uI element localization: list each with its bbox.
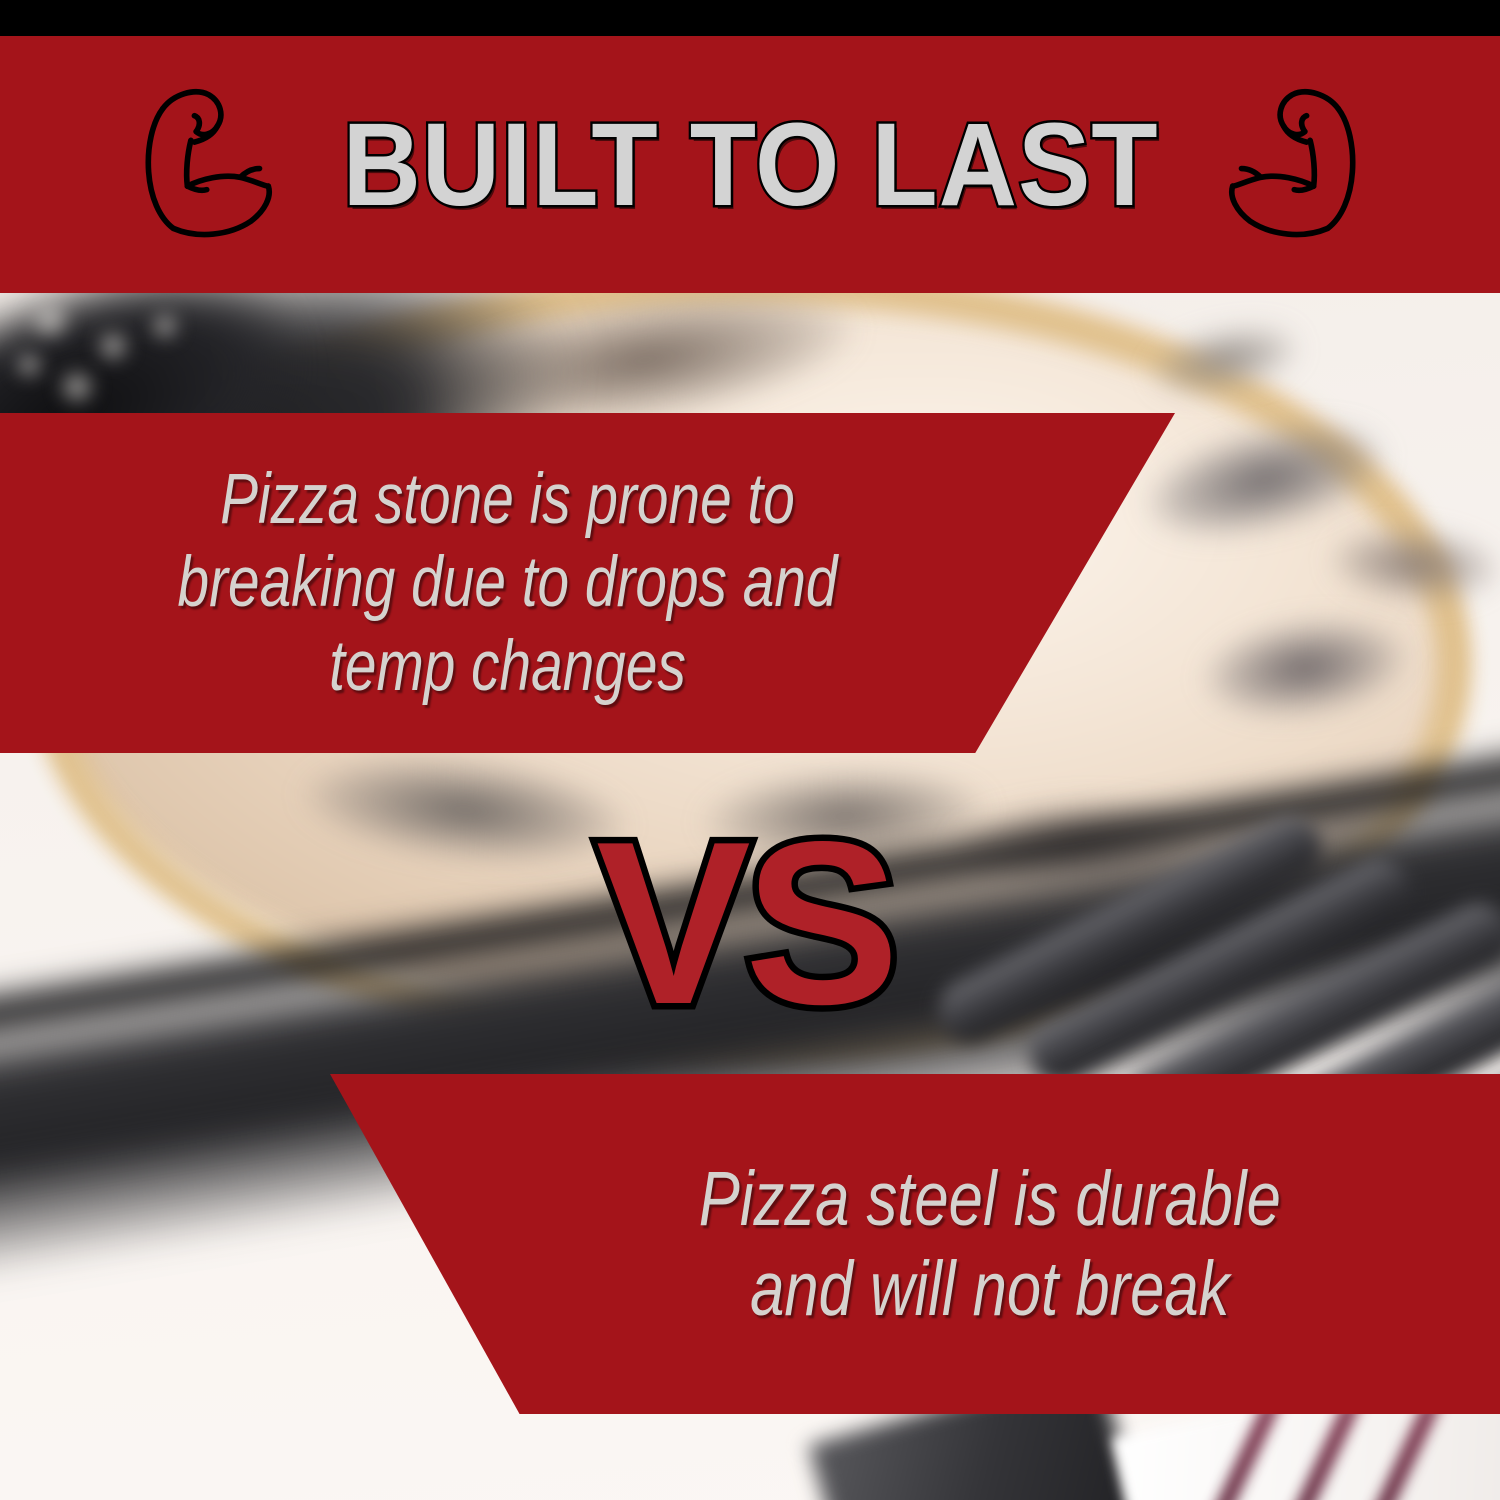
grill-highlight <box>150 312 180 340</box>
vs-divider-label: VS <box>596 808 893 1040</box>
flexed-bicep-icon <box>123 77 301 253</box>
promo-graphic: BUILT TO LAST Pizza stone is prone to br… <box>0 0 1500 1500</box>
claim-banner-pizza-steel: Pizza steel is durable and will not brea… <box>330 1074 1500 1414</box>
grill-highlight <box>96 330 130 362</box>
top-black-bar <box>0 0 1500 36</box>
claim-banner-pizza-stone: Pizza stone is prone to breaking due to … <box>0 413 1175 753</box>
claim-text-pizza-steel: Pizza steel is durable and will not brea… <box>699 1154 1281 1334</box>
flexed-bicep-icon <box>1200 77 1378 253</box>
grill-highlight <box>28 300 72 340</box>
grill-highlight <box>58 370 96 404</box>
header-banner: BUILT TO LAST <box>0 36 1500 293</box>
claim-text-pizza-stone: Pizza stone is prone to breaking due to … <box>178 458 838 707</box>
page-title: BUILT TO LAST <box>342 106 1158 224</box>
grill-highlight <box>14 352 44 378</box>
